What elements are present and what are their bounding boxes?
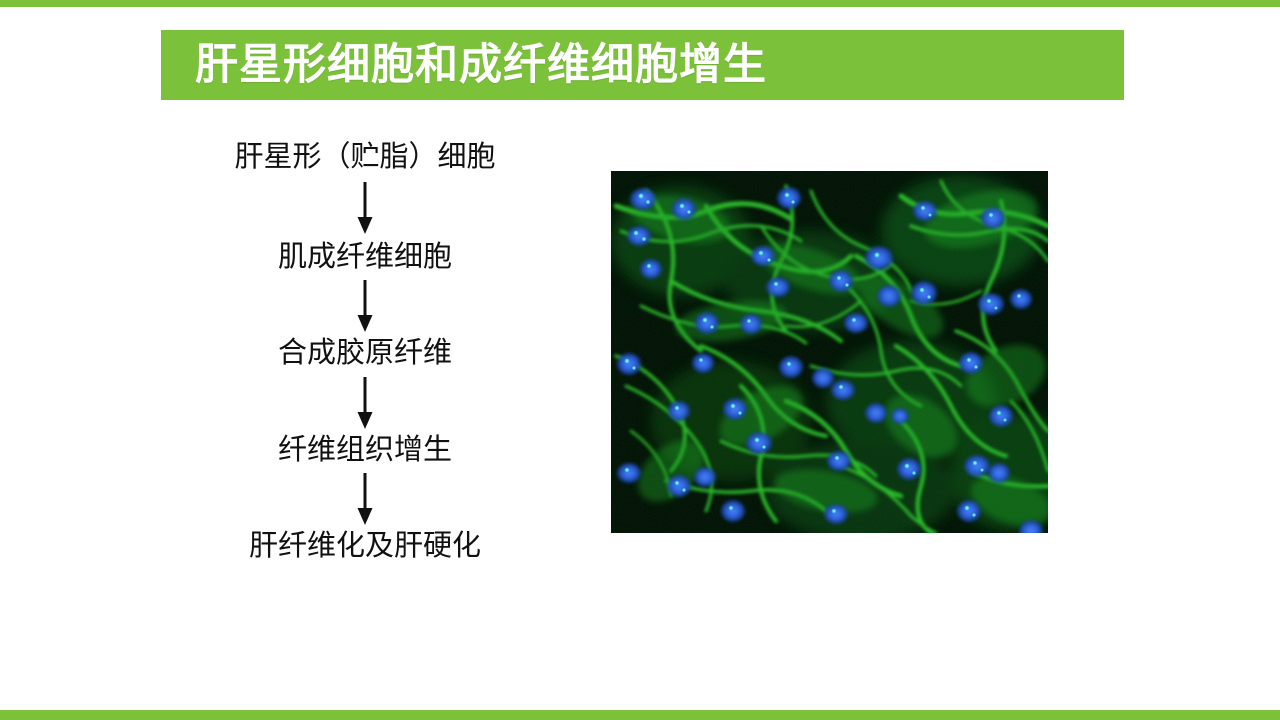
micrograph-canvas xyxy=(611,171,1048,533)
down-arrow-icon xyxy=(352,280,378,332)
down-arrow-icon xyxy=(352,182,378,234)
bottom-accent-strip xyxy=(0,710,1280,720)
flowchart: 肝星形（贮脂）细胞 肌成纤维细胞 合成胶原纤维 纤维组织增生 肝纤维化及肝硬化 xyxy=(150,140,580,563)
immunofluorescence-micrograph xyxy=(611,171,1048,533)
flow-node-1: 肝星形（贮脂）细胞 xyxy=(234,140,495,174)
page-title: 肝星形细胞和成纤维细胞增生 xyxy=(195,44,767,87)
title-banner: 肝星形细胞和成纤维细胞增生 xyxy=(161,30,1124,100)
flow-node-4: 纤维组织增生 xyxy=(278,433,452,467)
top-accent-strip xyxy=(0,0,1280,7)
flow-node-2: 肌成纤维细胞 xyxy=(278,240,452,274)
down-arrow-icon xyxy=(352,377,378,429)
down-arrow-icon xyxy=(352,473,378,525)
flow-node-3: 合成胶原纤维 xyxy=(278,336,452,370)
flow-node-5: 肝纤维化及肝硬化 xyxy=(249,529,481,563)
